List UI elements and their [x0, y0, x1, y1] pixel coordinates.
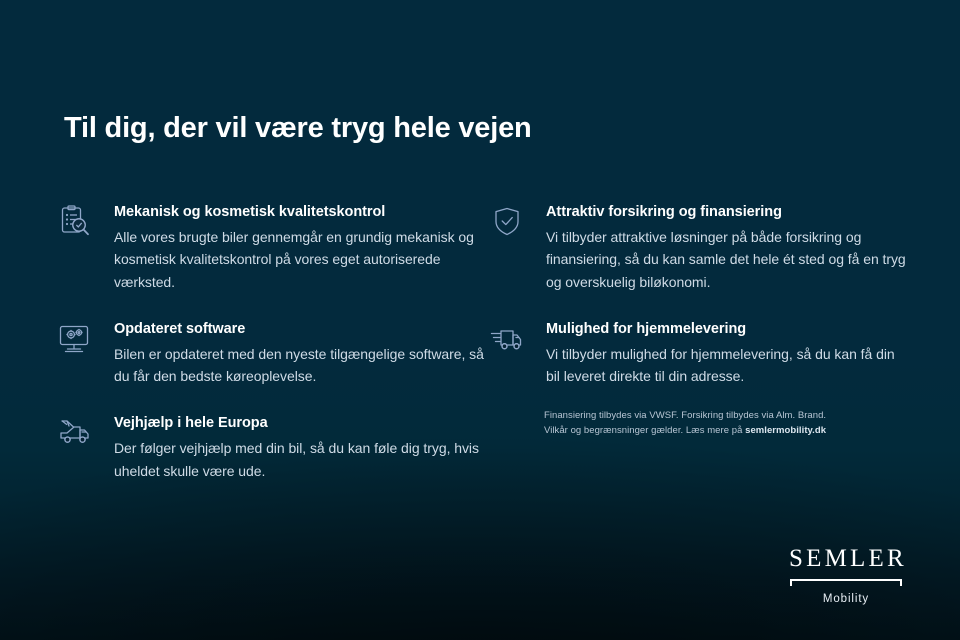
- disclaimer-line-2-text: Vilkår og begrænsninger gælder. Læs mere…: [544, 425, 745, 436]
- clipboard-magnifier-check-icon: [58, 203, 114, 239]
- feature-grid: Mekanisk og kosmetisk kvalitetskontrol A…: [58, 203, 910, 482]
- feature-text: Mulighed for hjemmelevering Vi tilbyder …: [546, 320, 910, 388]
- logo-wordmark: SEMLER: [786, 546, 906, 571]
- disclaimer-line-2: Vilkår og begrænsninger gælder. Læs mere…: [544, 423, 884, 438]
- feature-text: Opdateret software Bilen er opdateret me…: [114, 320, 490, 388]
- page-title: Til dig, der vil være tryg hele vejen: [64, 112, 532, 145]
- promo-slide: Til dig, der vil være tryg hele vejen: [0, 0, 960, 640]
- shield-check-icon: [490, 203, 546, 239]
- feature-text: Mekanisk og kosmetisk kvalitetskontrol A…: [114, 203, 490, 294]
- feature-body: Alle vores brugte biler gennemgår en gru…: [114, 226, 490, 294]
- feature-heading: Opdateret software: [114, 320, 490, 340]
- feature-body: Bilen er opdateret med den nyeste tilgæn…: [114, 343, 490, 389]
- logo-subtitle: Mobility: [786, 593, 906, 605]
- tow-truck-icon: [58, 414, 114, 450]
- feature-column-right: Attraktiv forsikring og finansiering Vi …: [490, 203, 910, 482]
- logo-rule-bar: [790, 579, 902, 581]
- disclaimer-line-1: Finansiering tilbydes via VWSF. Forsikri…: [544, 408, 884, 423]
- feature-body: Der følger vejhjælp med din bil, så du k…: [114, 437, 490, 483]
- feature-text: Attraktiv forsikring og finansiering Vi …: [546, 203, 910, 294]
- feature-body: Vi tilbyder mulighed for hjemmelevering,…: [546, 343, 910, 389]
- feature-column-left: Mekanisk og kosmetisk kvalitetskontrol A…: [58, 203, 490, 482]
- semler-mobility-logo: SEMLER Mobility: [786, 546, 906, 605]
- feature-insurance-financing: Attraktiv forsikring og finansiering Vi …: [490, 203, 910, 294]
- feature-text: Vejhjælp i hele Europa Der følger vejhjæ…: [114, 414, 490, 482]
- logo-bracket-rule: [790, 579, 902, 586]
- feature-heading: Attraktiv forsikring og finansiering: [546, 203, 910, 223]
- monitor-gears-icon: [58, 320, 114, 356]
- feature-body: Vi tilbyder attraktive løsninger på både…: [546, 226, 910, 294]
- feature-home-delivery: Mulighed for hjemmelevering Vi tilbyder …: [490, 320, 910, 388]
- feature-updated-software: Opdateret software Bilen er opdateret me…: [58, 320, 490, 388]
- legal-disclaimer: Finansiering tilbydes via VWSF. Forsikri…: [544, 408, 884, 439]
- disclaimer-website-link[interactable]: semlermobility.dk: [745, 425, 826, 436]
- feature-roadside-assistance: Vejhjælp i hele Europa Der følger vejhjæ…: [58, 414, 490, 482]
- delivery-truck-icon: [490, 320, 546, 356]
- feature-heading: Vejhjælp i hele Europa: [114, 414, 490, 434]
- feature-heading: Mekanisk og kosmetisk kvalitetskontrol: [114, 203, 490, 223]
- feature-heading: Mulighed for hjemmelevering: [546, 320, 910, 340]
- feature-quality-control: Mekanisk og kosmetisk kvalitetskontrol A…: [58, 203, 490, 294]
- logo-rule-tick-left: [790, 579, 792, 586]
- logo-rule-tick-right: [900, 579, 902, 586]
